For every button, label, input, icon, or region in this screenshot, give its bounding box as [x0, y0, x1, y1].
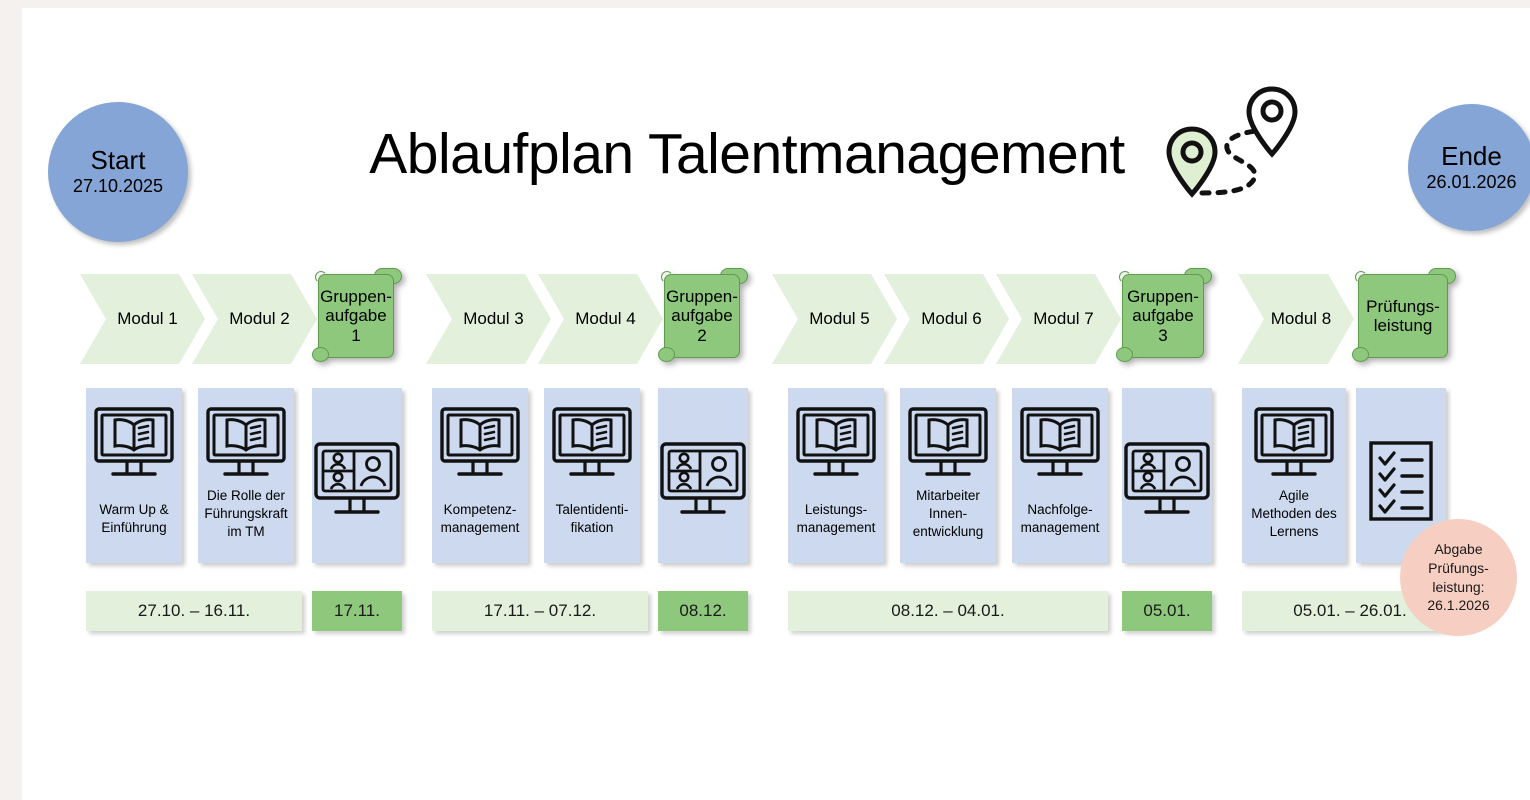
module-card-label: Leistungs-management: [793, 501, 880, 537]
module-card-label: MitarbeiterInnen-entwicklung: [909, 487, 988, 540]
process-step-chevron[interactable]: Modul 2: [192, 274, 317, 364]
deadline-text: AbgabePrüfungs-leistung:26.1.2026: [1427, 540, 1489, 616]
end-date: 26.01.2026: [1426, 171, 1516, 194]
process-step-label: Modul 4: [575, 309, 635, 329]
checklist-icon: [1368, 440, 1434, 527]
process-step-label: Modul 5: [809, 309, 869, 329]
process-step-chevron[interactable]: Modul 5: [772, 274, 897, 364]
monitor-book-icon: [907, 406, 989, 487]
group-task-scroll[interactable]: Gruppen-aufgabe1: [312, 266, 402, 364]
group-task-scroll[interactable]: Prüfungs-leistung: [1352, 266, 1456, 364]
module-card[interactable]: Leistungs-management: [788, 388, 884, 563]
group-task-label: Gruppen-aufgabe3: [1122, 274, 1204, 358]
process-step-label: Modul 3: [463, 309, 523, 329]
scroll-curl-bottom-icon: [658, 347, 675, 362]
monitor-book-icon: [1253, 406, 1335, 487]
group-task-label: Gruppen-aufgabe2: [664, 274, 740, 358]
scroll-curl-topleft-icon: [315, 271, 327, 283]
module-card[interactable]: Talentidenti-fikation: [544, 388, 640, 563]
date-bar-label: 27.10. – 16.11.: [138, 601, 250, 621]
process-step-chevron[interactable]: Modul 3: [426, 274, 551, 364]
group-task-label: Gruppen-aufgabe1: [318, 274, 394, 358]
scroll-curl-bottom-icon: [1116, 347, 1133, 362]
module-card[interactable]: Kompetenz-management: [432, 388, 528, 563]
process-step-label: Modul 7: [1033, 309, 1093, 329]
process-step-label: Modul 2: [229, 309, 289, 329]
module-card-label: Talentidenti-fikation: [552, 501, 633, 537]
date-bar-label: 05.01.: [1143, 601, 1190, 621]
date-bar-label: 05.01. – 26.01.: [1293, 601, 1406, 621]
process-step-label: Modul 8: [1271, 309, 1331, 329]
date-bar-label: 17.11.: [334, 601, 380, 621]
route-pins-icon: [1156, 81, 1306, 216]
page-title: Ablaufplan Talentmanagement: [352, 121, 1142, 187]
monitor-book-icon: [1019, 406, 1101, 487]
monitor-book-icon: [93, 406, 175, 487]
module-card[interactable]: Die Rolle derFührungskraftim TM: [198, 388, 294, 563]
group-task-label: Prüfungs-leistung: [1358, 274, 1448, 358]
monitor-book-icon: [205, 406, 287, 487]
module-card-label: Warm Up &Einführung: [95, 501, 172, 537]
process-step-chevron[interactable]: Modul 1: [80, 274, 205, 364]
video-conference-icon: [312, 440, 402, 527]
monitor-book-icon: [795, 406, 877, 487]
start-milestone-circle: Start 27.10.2025: [48, 102, 188, 242]
module-card-label: Nachfolge-management: [1017, 501, 1104, 537]
end-label: Ende: [1441, 142, 1502, 171]
module-card[interactable]: Nachfolge-management: [1012, 388, 1108, 563]
monitor-book-icon: [551, 406, 633, 487]
scroll-curl-topleft-icon: [661, 271, 673, 283]
module-card[interactable]: AgileMethoden desLernens: [1242, 388, 1346, 563]
module-card-label: AgileMethoden desLernens: [1247, 487, 1341, 540]
date-bar-row: 27.10. – 16.11.17.11.17.11. – 07.12.08.1…: [22, 591, 1530, 635]
date-bar-label: 17.11. – 07.12.: [484, 601, 596, 621]
module-card[interactable]: [658, 388, 748, 563]
date-bar-label: 08.12. – 04.01.: [891, 601, 1004, 621]
module-card[interactable]: [312, 388, 402, 563]
module-card-row: Warm Up &EinführungDie Rolle derFührungs…: [22, 388, 1530, 573]
module-card-label: Kompetenz-management: [437, 501, 524, 537]
date-bar: 05.01.: [1122, 591, 1212, 631]
module-card[interactable]: MitarbeiterInnen-entwicklung: [900, 388, 996, 563]
diagram-canvas: Start 27.10.2025 Ablaufplan Talentmanage…: [22, 8, 1530, 800]
module-card-label: Die Rolle derFührungskraftim TM: [200, 487, 291, 540]
date-bar: 08.12. – 04.01.: [788, 591, 1108, 631]
module-card[interactable]: Warm Up &Einführung: [86, 388, 182, 563]
start-label: Start: [91, 146, 146, 175]
end-milestone-circle: Ende 26.01.2026: [1408, 104, 1530, 231]
scroll-curl-topleft-icon: [1119, 271, 1131, 283]
video-conference-icon: [658, 440, 748, 527]
monitor-book-icon: [439, 406, 521, 487]
process-step-chevron[interactable]: Modul 4: [538, 274, 663, 364]
scroll-curl-topleft-icon: [1355, 271, 1367, 283]
scroll-curl-bottom-icon: [312, 347, 329, 362]
process-step-chevron[interactable]: Modul 8: [1238, 274, 1354, 364]
process-step-chevron[interactable]: Modul 7: [996, 274, 1121, 364]
date-bar: 27.10. – 16.11.: [86, 591, 302, 631]
group-task-scroll[interactable]: Gruppen-aufgabe2: [658, 266, 748, 364]
date-bar: 17.11.: [312, 591, 402, 631]
process-step-chevron[interactable]: Modul 6: [884, 274, 1009, 364]
video-conference-icon: [1122, 440, 1212, 527]
start-date: 27.10.2025: [73, 175, 163, 198]
module-card[interactable]: [1122, 388, 1212, 563]
process-step-label: Modul 6: [921, 309, 981, 329]
deadline-bubble: AbgabePrüfungs-leistung:26.1.2026: [1400, 519, 1517, 636]
process-step-label: Modul 1: [117, 309, 177, 329]
scroll-curl-bottom-icon: [1352, 347, 1369, 362]
date-bar: 08.12.: [658, 591, 748, 631]
date-bar-label: 08.12.: [679, 601, 726, 621]
process-step-row: Modul 1Modul 2Gruppen-aufgabe1Modul 3Mod…: [22, 266, 1530, 376]
group-task-scroll[interactable]: Gruppen-aufgabe3: [1116, 266, 1212, 364]
date-bar: 17.11. – 07.12.: [432, 591, 648, 631]
